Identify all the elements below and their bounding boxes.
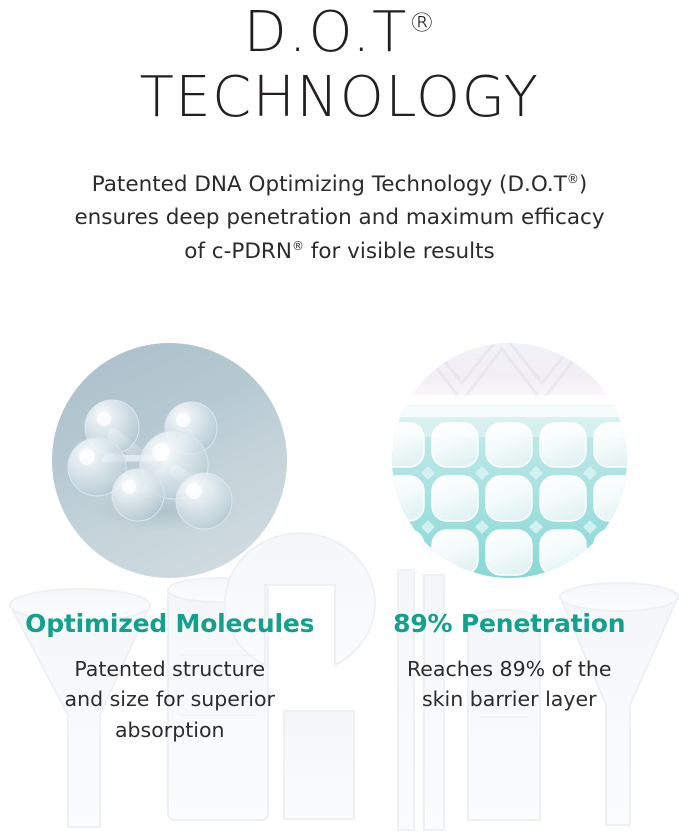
feature-body-line: and size for superior xyxy=(65,684,275,714)
page-title-line-2: TECHNOLOGY xyxy=(0,69,679,128)
page-header: D.O.T® TECHNOLOGY xyxy=(0,0,679,128)
feature-body-line: skin barrier layer xyxy=(407,684,612,714)
page-title-line-1: D.O.T® xyxy=(0,4,679,63)
feature-heading-optimized-molecules: Optimized Molecules xyxy=(25,609,314,638)
subtitle-line-1-text-b: ) xyxy=(579,172,587,197)
subtitle-line-1: Patented DNA Optimizing Technology (D.O.… xyxy=(0,168,679,201)
registered-trademark-icon: ® xyxy=(292,238,304,252)
page-subtitle: Patented DNA Optimizing Technology (D.O.… xyxy=(0,168,679,268)
title-dot-text: D.O.T xyxy=(244,0,409,65)
subtitle-line-1-text-a: Patented DNA Optimizing Technology (D.O.… xyxy=(92,172,567,197)
subtitle-line-2: ensures deep penetration and maximum eff… xyxy=(0,201,679,234)
molecule-illustration xyxy=(52,343,287,578)
feature-column-optimized-molecules: Optimized Molecules Patented structure a… xyxy=(0,343,340,813)
skin-barrier-lattice-illustration xyxy=(392,343,627,578)
feature-body-optimized-molecules: Patented structure and size for superior… xyxy=(65,654,275,745)
feature-body-line: Reaches 89% of the xyxy=(407,654,612,684)
registered-trademark-icon: ® xyxy=(567,172,579,186)
feature-body-line: absorption xyxy=(65,715,275,745)
feature-body-line: Patented structure xyxy=(65,654,275,684)
registered-trademark-icon: ® xyxy=(408,7,435,38)
subtitle-line-3-text-b: for visible results xyxy=(304,239,495,264)
subtitle-line-3: of c-PDRN® for visible results xyxy=(0,235,679,268)
feature-columns: Optimized Molecules Patented structure a… xyxy=(0,343,679,813)
feature-column-penetration: 89% Penetration Reaches 89% of the skin … xyxy=(340,343,679,813)
feature-body-penetration: Reaches 89% of the skin barrier layer xyxy=(407,654,612,715)
feature-heading-penetration: 89% Penetration xyxy=(393,609,625,638)
subtitle-line-3-text-a: of c-PDRN xyxy=(184,239,292,264)
